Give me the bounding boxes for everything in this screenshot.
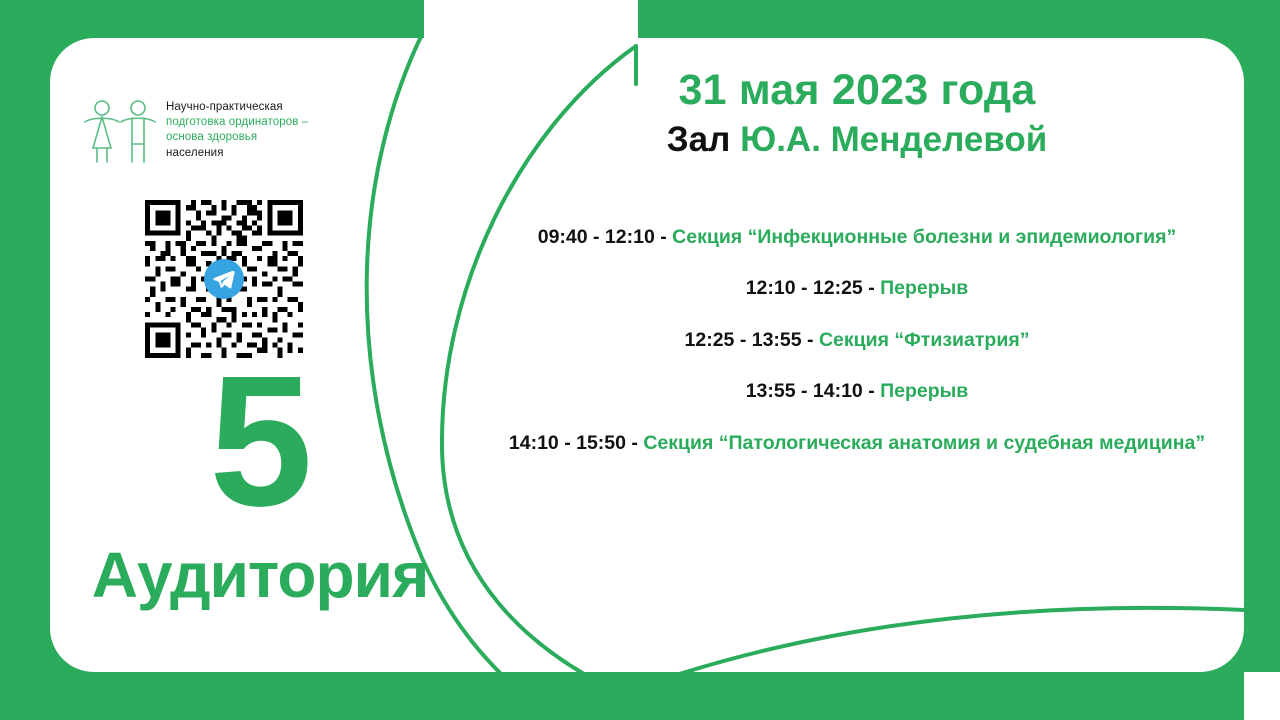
hall-name: Ю.А. Менделевой xyxy=(740,120,1047,159)
organization-logo: Научно-практическая подготовка ординатор… xyxy=(84,96,308,169)
schedule-title: Секция “Инфекционные болезни и эпидемиол… xyxy=(672,226,1176,248)
schedule-time: 13:55 - 14:10 xyxy=(746,380,863,402)
logo-line-4: населения xyxy=(166,146,308,161)
schedule-separator: - xyxy=(868,277,875,299)
schedule-row: 13:55 - 14:10 - Перерыв xyxy=(130,380,1244,403)
logo-line-1: Научно-практическая xyxy=(166,100,308,115)
logo-line-3: основа здоровья xyxy=(166,130,308,145)
schedule-time: 14:10 - 15:50 xyxy=(509,432,626,454)
schedule-time: 09:40 - 12:10 xyxy=(538,226,655,248)
logo-line-2: подготовка ординаторов – xyxy=(166,115,308,130)
schedule-time: 12:25 - 13:55 xyxy=(685,329,802,351)
schedule-title: Перерыв xyxy=(880,380,968,402)
schedule-separator: - xyxy=(807,329,814,351)
schedule-list: 09:40 - 12:10 - Секция “Инфекционные бол… xyxy=(130,226,1244,483)
schedule-title: Секция “Фтизиатрия” xyxy=(819,329,1030,351)
room-label: Аудитория xyxy=(50,543,470,607)
schedule-separator: - xyxy=(660,226,667,248)
schedule-row: 12:10 - 12:25 - Перерыв xyxy=(130,277,1244,300)
schedule-row: 14:10 - 15:50 - Секция “Патологическая а… xyxy=(130,432,1244,455)
hall-line: Зал Ю.А. Менделевой xyxy=(470,120,1244,160)
right-column: 31 мая 2023 года Зал Ю.А. Менделевой 09:… xyxy=(470,38,1244,672)
schedule-separator: - xyxy=(868,380,875,402)
schedule-separator: - xyxy=(631,432,638,454)
slide-canvas: Научно-практическая подготовка ординатор… xyxy=(0,0,1280,720)
schedule-row: 09:40 - 12:10 - Секция “Инфекционные бол… xyxy=(130,226,1244,249)
schedule-row: 12:25 - 13:55 - Секция “Фтизиатрия” xyxy=(130,329,1244,352)
schedule-time: 12:10 - 12:25 xyxy=(746,277,863,299)
schedule-title: Перерыв xyxy=(880,277,968,299)
poster-card: Научно-практическая подготовка ординатор… xyxy=(50,38,1244,672)
two-people-icon xyxy=(84,96,156,169)
hall-prefix: Зал xyxy=(667,120,731,159)
organization-logo-text: Научно-практическая подготовка ординатор… xyxy=(166,96,308,161)
event-date: 31 мая 2023 года xyxy=(470,66,1244,115)
schedule-title: Секция “Патологическая анатомия и судебн… xyxy=(643,432,1205,454)
